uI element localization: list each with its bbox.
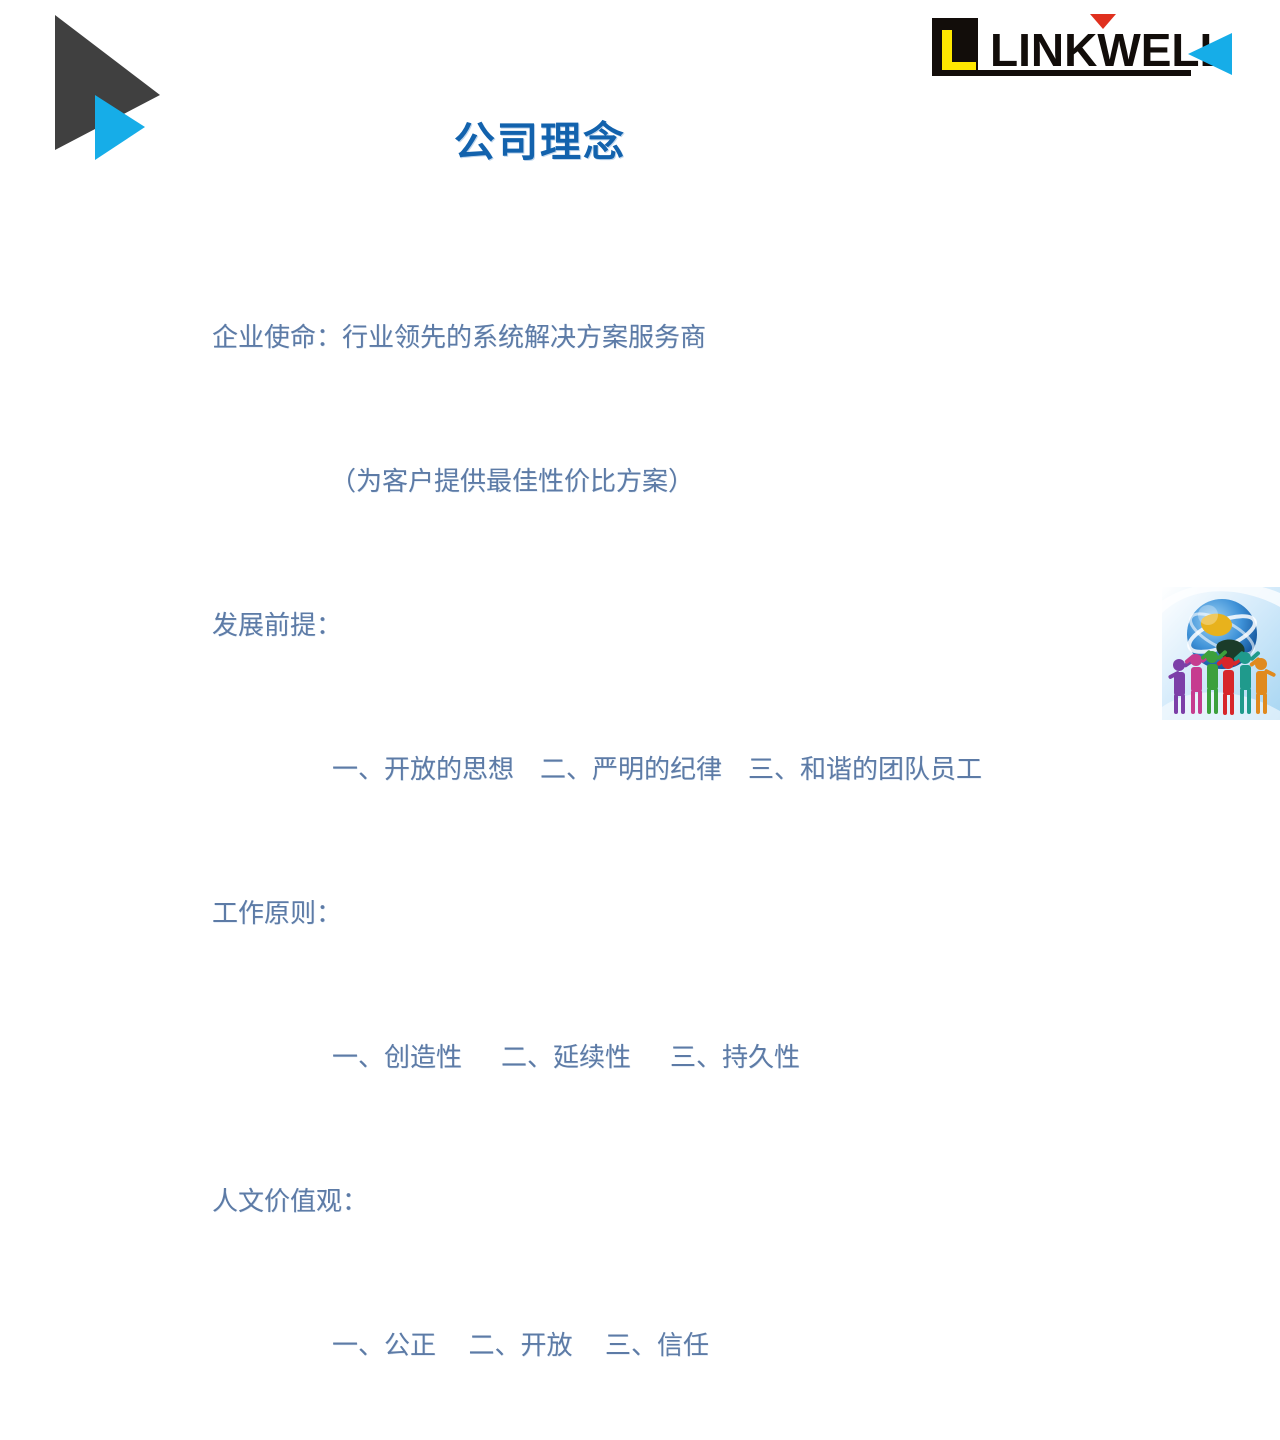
content-block: 企业使命：行业领先的系统解决方案服务商 （为客户提供最佳性价比方案） 发展前提：… <box>212 218 1112 1440</box>
linkwell-logo: LINKWELL <box>928 8 1240 90</box>
teamwork-globe-svg <box>1162 587 1280 720</box>
content-line: 发展前提： <box>212 602 1112 650</box>
content-line: （为客户提供最佳性价比方案） <box>212 458 1112 506</box>
linkwell-logo-svg: LINKWELL <box>928 8 1240 90</box>
content-line: 一、创造性 二、延续性 三、持久性 <box>212 1034 1112 1082</box>
globe-highlight <box>1198 605 1218 625</box>
slide-canvas: LINKWELL 公司理念 企业使命：行业领先的系统解决方案服务商 （为客户提供… <box>0 0 1280 720</box>
content-line: 企业使命：行业领先的系统解决方案服务商 <box>212 314 1112 362</box>
content-line: 人文价值观： <box>212 1178 1112 1226</box>
page-title: 公司理念 <box>0 108 1080 168</box>
teamwork-globe-image <box>1162 587 1280 720</box>
content-line: 一、公正 二、开放 三、信任 <box>212 1322 1112 1370</box>
logo-underline-bar <box>966 70 1191 76</box>
content-line: 一、开放的思想 二、严明的纪律 三、和谐的团队员工 <box>212 746 1112 794</box>
content-line: 工作原则： <box>212 890 1112 938</box>
logo-wordmark: LINKWELL <box>990 24 1228 76</box>
